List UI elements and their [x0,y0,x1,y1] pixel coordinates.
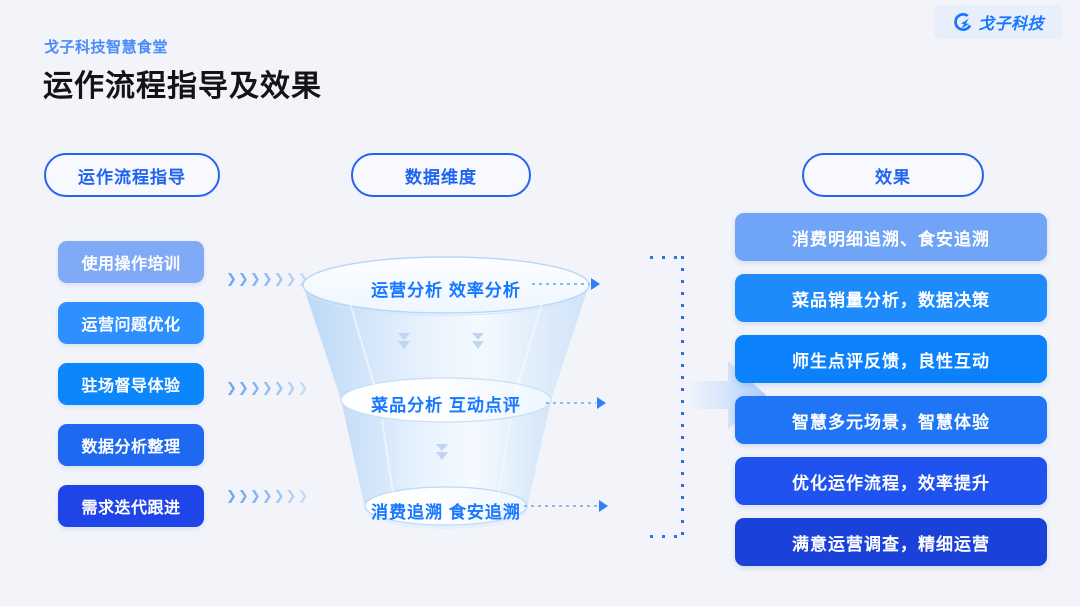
dotted-line [532,283,590,285]
list-item[interactable]: 驻场督导体验 [58,363,204,405]
column-header-right: 效果 [802,153,984,197]
process-step-list: 使用操作培训 运营问题优化 驻场督导体验 数据分析整理 需求迭代跟进 [58,241,204,527]
dotted-arrow-connector [532,279,600,289]
eyebrow-text: 戈子科技智慧食堂 [44,36,168,57]
bracket-top-segment [650,256,684,259]
list-item[interactable]: 智慧多元场景，智慧体验 [735,396,1047,444]
outcome-list: 消费明细追溯、食安追溯 菜品销量分析，数据决策 师生点评反馈，良性互动 智慧多元… [735,213,1047,566]
list-item[interactable]: 需求迭代跟进 [58,485,204,527]
column-header-left: 运作流程指导 [44,153,220,197]
dotted-arrow-connector [546,398,606,408]
column-header-middle: 数据维度 [351,153,531,197]
list-item[interactable]: 师生点评反馈，良性互动 [735,335,1047,383]
right-arrow-icon [591,278,600,290]
dotted-arrow-connector [524,501,608,511]
brand-logo-text: 戈子科技 [978,10,1044,34]
right-arrow-icon [599,500,608,512]
dotted-bracket-icon [650,256,684,538]
outcome-label: 消费明细追溯、食安追溯 [792,225,990,250]
list-item[interactable]: 数据分析整理 [58,424,204,466]
bracket-vertical-segment [681,256,684,538]
outcome-label: 优化运作流程，效率提升 [792,469,990,494]
list-item[interactable]: 消费明细追溯、食安追溯 [735,213,1047,261]
right-arrow-icon [597,397,606,409]
list-item[interactable]: 使用操作培训 [58,241,204,283]
dotted-line [546,402,596,404]
outcome-label: 满意运营调查，精细运营 [792,530,990,555]
outcome-label: 智慧多元场景，智慧体验 [792,408,990,433]
process-step-label: 数据分析整理 [81,433,180,457]
list-item[interactable]: 优化运作流程，效率提升 [735,457,1047,505]
outcome-label: 菜品销量分析，数据决策 [792,286,990,311]
outcome-label: 师生点评反馈，良性互动 [792,347,990,372]
list-item[interactable]: 运营问题优化 [58,302,204,344]
brand-logo: 戈子科技 [934,5,1062,39]
dotted-line [524,505,598,507]
process-step-label: 运营问题优化 [81,311,180,335]
process-step-label: 驻场督导体验 [81,372,180,396]
process-step-label: 使用操作培训 [81,250,180,274]
list-item[interactable]: 菜品销量分析，数据决策 [735,274,1047,322]
process-step-label: 需求迭代跟进 [81,494,180,518]
page-title: 运作流程指导及效果 [43,61,322,105]
list-item[interactable]: 满意运营调查，精细运营 [735,518,1047,566]
bracket-bottom-segment [650,535,684,538]
slide-root: 戈子科技 戈子科技智慧食堂 运作流程指导及效果 运作流程指导 数据维度 效果 使… [0,0,1080,606]
gezi-swoosh-logo-icon [952,11,974,33]
